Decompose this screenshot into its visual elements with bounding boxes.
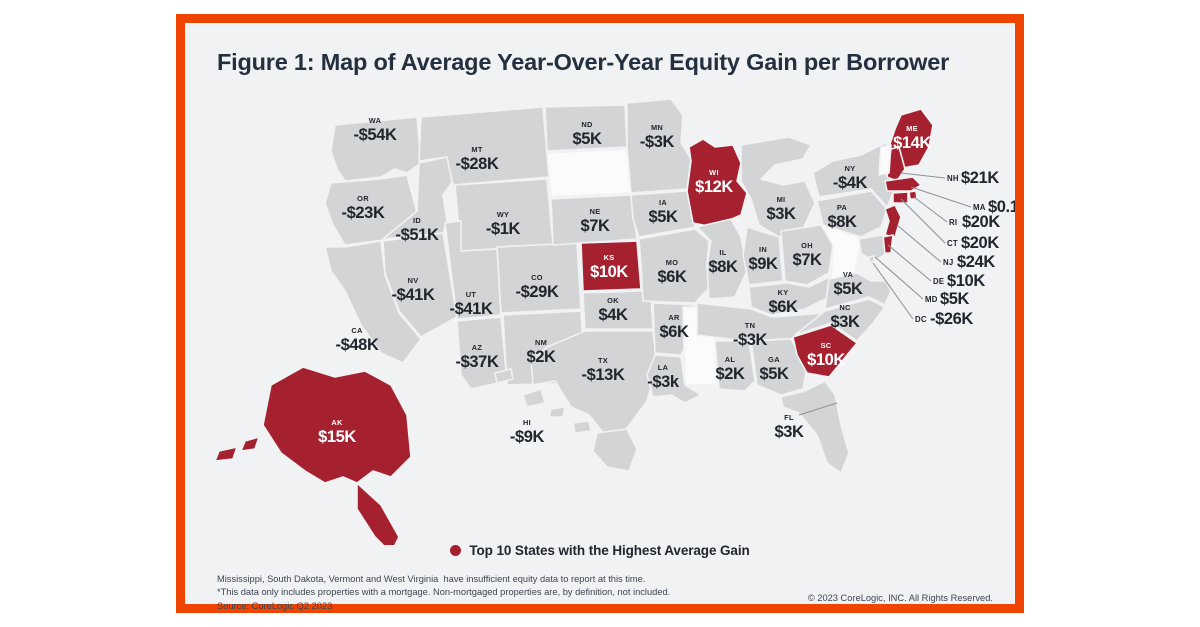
state-hi-4[interactable] (573, 421, 591, 433)
page-title: Figure 1: Map of Average Year-Over-Year … (217, 49, 949, 76)
state-vt[interactable] (879, 145, 891, 175)
state-al[interactable] (715, 341, 755, 391)
footnote-mortgage-disclaimer: *This data only includes properties with… (217, 586, 777, 599)
svg-text:NH: NH (947, 174, 959, 183)
callout-dc: DC -$26K (915, 310, 973, 328)
state-mi[interactable] (741, 137, 815, 237)
callout-ri: RI $20K (949, 213, 1000, 231)
callout-md: MD $5K (925, 290, 970, 308)
legend-label: Top 10 States with the Highest Average G… (469, 543, 749, 558)
state-ak[interactable] (215, 367, 411, 545)
svg-text:$21K: $21K (961, 169, 999, 187)
svg-text:DE: DE (933, 277, 944, 286)
svg-text:$3K: $3K (774, 423, 804, 441)
state-hi-2[interactable] (523, 389, 545, 407)
svg-text:MA: MA (973, 203, 986, 212)
svg-text:$20K: $20K (961, 234, 999, 252)
state-mn[interactable] (627, 99, 691, 193)
state-label-hi: HI -$9K (510, 418, 545, 446)
svg-text:NJ: NJ (943, 258, 954, 267)
footnote-insufficient-data: Mississippi, South Dakota, Vermont and W… (217, 573, 777, 586)
svg-text:CT: CT (947, 239, 958, 248)
state-hi-5[interactable] (593, 429, 637, 471)
state-hi-3[interactable] (549, 407, 565, 417)
legend: Top 10 States with the Highest Average G… (185, 543, 1015, 558)
svg-text:-$9K: -$9K (510, 428, 545, 446)
svg-text:$10K: $10K (947, 272, 985, 290)
svg-text:CA: CA (351, 326, 363, 335)
state-nd[interactable] (545, 105, 627, 151)
svg-text:$20K: $20K (962, 213, 1000, 231)
state-co[interactable] (497, 243, 581, 313)
state-ne[interactable] (551, 195, 637, 245)
callout-nh: NH $21K (947, 169, 999, 187)
state-dc[interactable] (869, 256, 874, 262)
figure-frame: Figure 1: Map of Average Year-Over-Year … (176, 14, 1024, 613)
state-ks[interactable] (581, 241, 641, 291)
svg-text:-$26K: -$26K (930, 310, 973, 328)
svg-text:HI: HI (523, 418, 531, 427)
state-wy[interactable] (455, 179, 553, 251)
state-oh[interactable] (781, 225, 833, 285)
footnote-source: Source: CoreLogic Q2 2023 (217, 600, 777, 613)
callout-de: DE $10K (933, 272, 985, 290)
us-equity-map: WA -$54K OR -$23K CA -$48K NV -$41K ID -… (185, 85, 1015, 545)
state-wi[interactable] (687, 139, 747, 227)
svg-text:MD: MD (925, 295, 938, 304)
svg-text:RI: RI (949, 218, 957, 227)
state-in[interactable] (743, 227, 783, 285)
svg-text:$24K: $24K (957, 253, 995, 271)
state-wa[interactable] (331, 117, 421, 181)
svg-text:$5K: $5K (940, 290, 970, 308)
callout-ct: CT $20K (947, 234, 999, 252)
state-fl[interactable] (781, 381, 849, 473)
state-mo[interactable] (639, 229, 715, 303)
svg-text:DC: DC (915, 315, 927, 324)
footnotes: Mississippi, South Dakota, Vermont and W… (217, 573, 777, 613)
state-sd[interactable] (547, 149, 631, 197)
state-label-fl: FL $3K (774, 413, 804, 441)
svg-text:FL: FL (784, 413, 794, 422)
state-nj[interactable] (885, 205, 901, 237)
state-ct[interactable] (893, 192, 908, 203)
copyright-notice: © 2023 CoreLogic, INC. All Rights Reserv… (808, 593, 993, 603)
callout-nj: NJ $24K (943, 253, 995, 271)
legend-dot-icon (450, 545, 461, 556)
